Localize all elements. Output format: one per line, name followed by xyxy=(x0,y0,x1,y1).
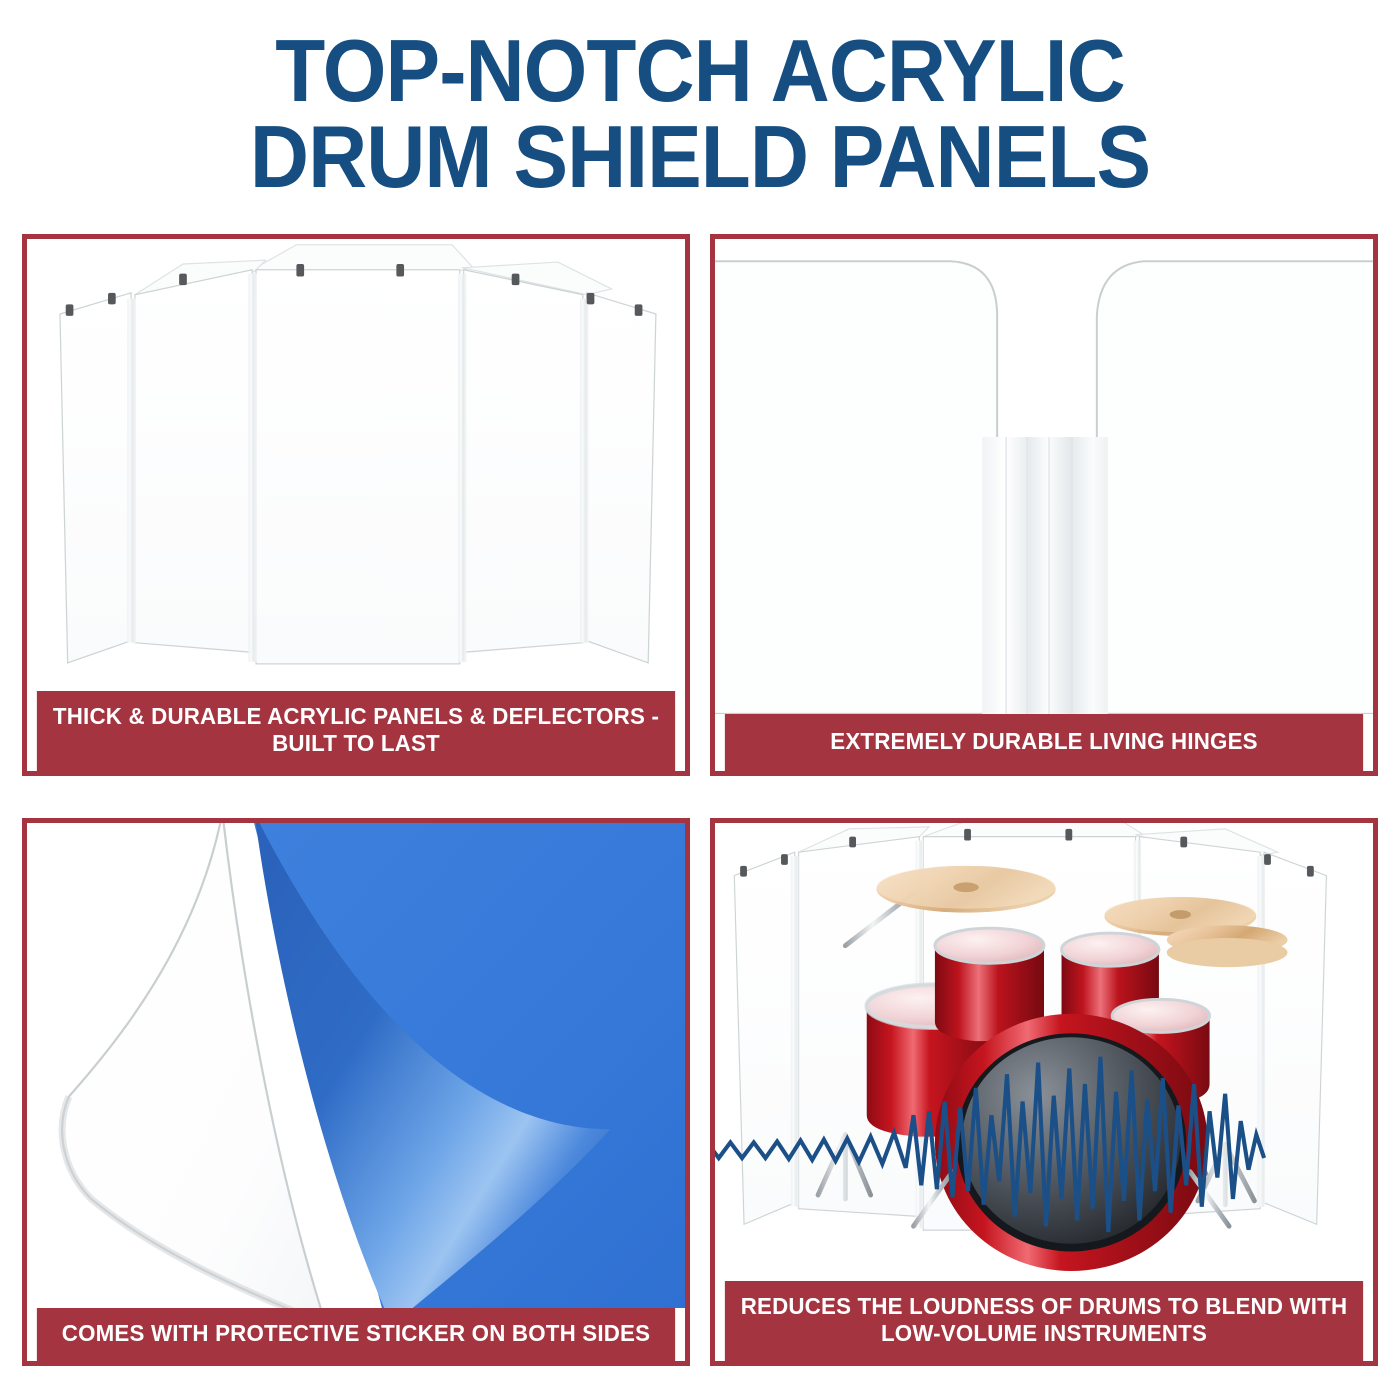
crash-cymbal xyxy=(876,866,1055,913)
blue-protective-film-peel-icon xyxy=(27,823,685,1308)
feature-card-grid: THICK & DURABLE ACRYLIC PANELS & DEFLECT… xyxy=(22,234,1378,1366)
card-caption-panels-deflectors: THICK & DURABLE ACRYLIC PANELS & DEFLECT… xyxy=(37,691,675,771)
feature-card-panels-deflectors: THICK & DURABLE ACRYLIC PANELS & DEFLECT… xyxy=(22,234,690,776)
acrylic-shield-five-panel-icon xyxy=(27,239,685,691)
hihat-cymbals xyxy=(1167,925,1288,967)
card-caption-living-hinges: EXTREMELY DURABLE LIVING HINGES xyxy=(725,714,1363,771)
card-caption-sound-reduction: REDUCES THE LOUDNESS OF DRUMS TO BLEND W… xyxy=(725,1281,1363,1361)
drum-kit-in-shield-illustration xyxy=(715,823,1373,1281)
living-hinge-icon xyxy=(715,239,1373,714)
title-line-1: TOP-NOTCH ACRYLIC xyxy=(49,28,1351,114)
feature-card-sound-reduction: REDUCES THE LOUDNESS OF DRUMS TO BLEND W… xyxy=(710,818,1378,1366)
title-line-2: DRUM SHIELD PANELS xyxy=(49,114,1351,200)
living-hinge-illustration xyxy=(715,239,1373,714)
card-caption-protective-sticker: COMES WITH PROTECTIVE STICKER ON BOTH SI… xyxy=(37,1308,675,1361)
page-title: TOP-NOTCH ACRYLIC DRUM SHIELD PANELS xyxy=(0,28,1400,200)
feature-card-living-hinges: EXTREMELY DURABLE LIVING HINGES xyxy=(710,234,1378,776)
protective-film-illustration xyxy=(27,823,685,1308)
feature-card-protective-sticker: COMES WITH PROTECTIVE STICKER ON BOTH SI… xyxy=(22,818,690,1366)
drum-kit-inside-shield-icon xyxy=(715,823,1373,1281)
drum-shield-illustration xyxy=(27,239,685,691)
